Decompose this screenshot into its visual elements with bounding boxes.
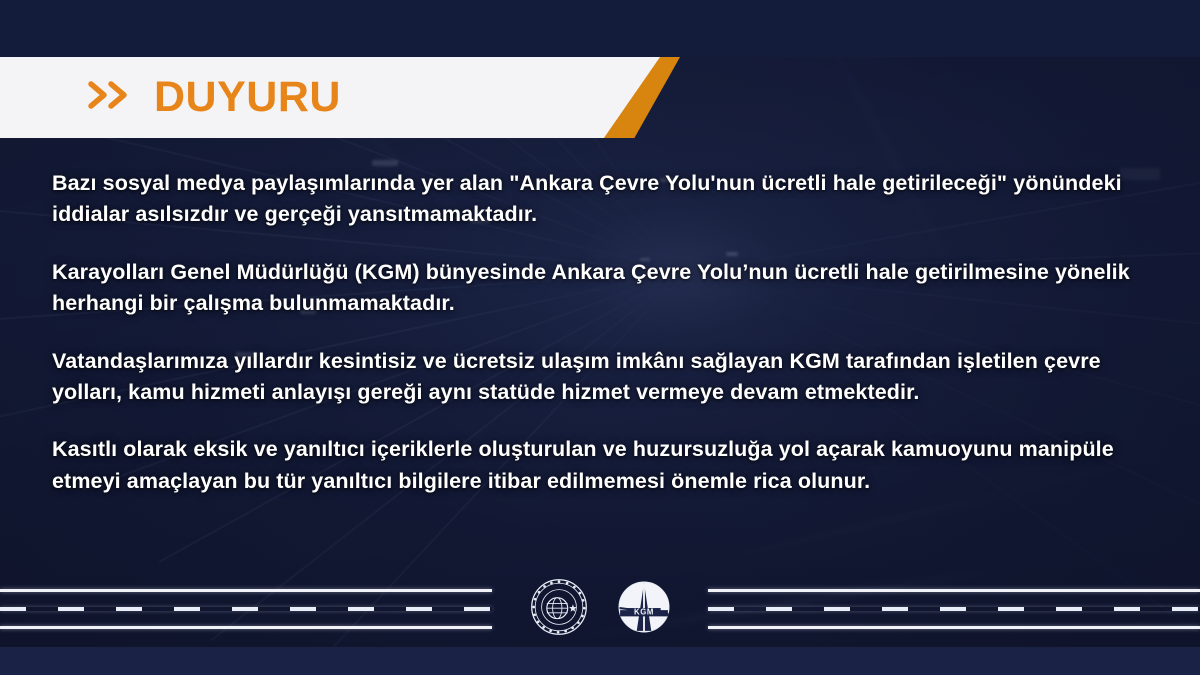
double-chevron-right-icon: [88, 80, 134, 115]
bottom-navy-band: [0, 647, 1200, 675]
footer: KGM: [0, 572, 1200, 647]
paragraph-1: Bazı sosyal medya paylaşımlarında yer al…: [52, 168, 1156, 231]
paragraph-4: Kasıtlı olarak eksik ve yanıltıcı içerik…: [52, 434, 1156, 497]
svg-text:KGM: KGM: [634, 608, 654, 617]
kgm-logo-icon: KGM: [618, 581, 670, 638]
announcement-body: Bazı sosyal medya paylaşımlarında yer al…: [52, 168, 1156, 497]
top-navy-band: [0, 0, 1200, 57]
ministry-emblem-icon: [530, 578, 588, 641]
announcement-poster: DUYURU Bazı sosyal medya paylaşımlarında…: [0, 0, 1200, 675]
header-banner: DUYURU: [0, 57, 1200, 138]
page-title: DUYURU: [154, 76, 341, 119]
paragraph-3: Vatandaşlarımıza yıllardır kesintisiz ve…: [52, 346, 1156, 409]
paragraph-2: Karayolları Genel Müdürlüğü (KGM) bünyes…: [52, 257, 1156, 320]
footer-logos: KGM: [0, 572, 1200, 647]
